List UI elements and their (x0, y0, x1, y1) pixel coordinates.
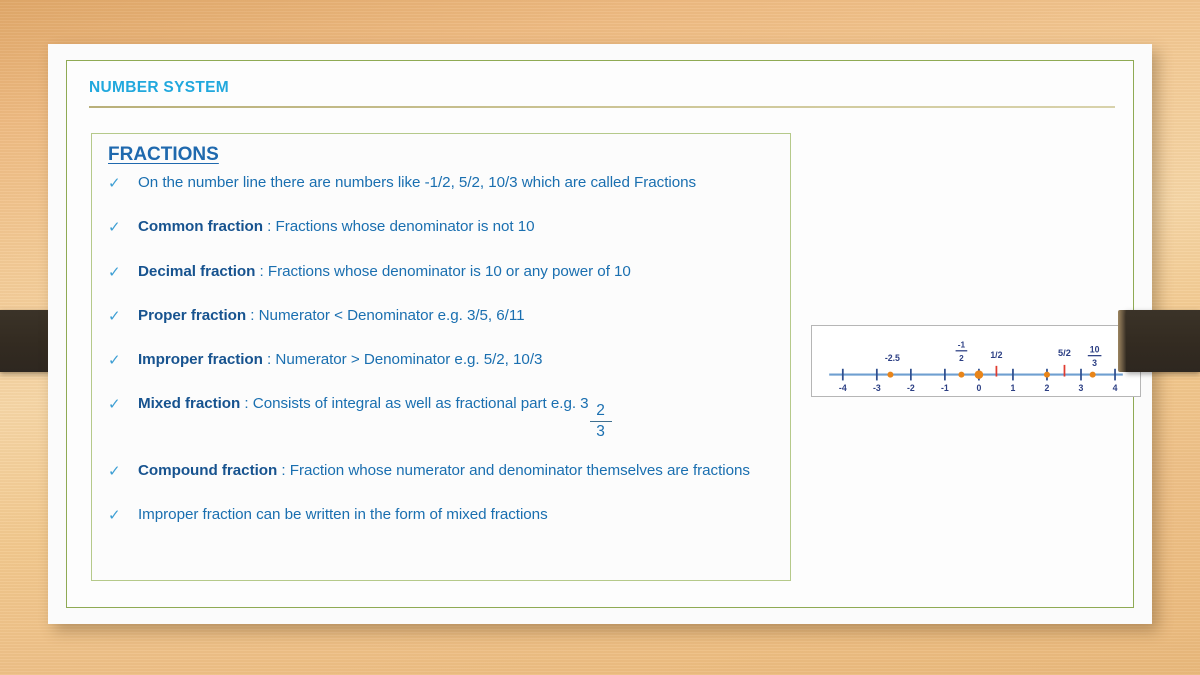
axis-label: -3 (873, 383, 881, 393)
list-item-body: : Fractions whose denominator is not 10 (263, 218, 535, 235)
point-label-denominator: 3 (1092, 358, 1097, 368)
check-icon: ✓ (108, 460, 138, 482)
list-item-term: Improper fraction (138, 351, 263, 368)
check-icon: ✓ (108, 172, 138, 194)
fraction-bar (590, 421, 612, 423)
number-line-svg: -4 -3 -2 -1 0 1 2 3 4 -2.5 (812, 326, 1140, 396)
list-item-body: : Consists of integral as well as fracti… (240, 395, 588, 412)
number-line-points: -2.5 -1 2 1/2 5/2 (885, 340, 1102, 379)
point-label: 5/2 (1058, 348, 1071, 358)
list-item-term: Compound fraction (138, 462, 277, 479)
axis-label: 1 (1011, 383, 1016, 393)
point-marker-origin (975, 370, 984, 379)
axis-label: -4 (839, 383, 847, 393)
point-marker (1044, 372, 1050, 378)
list-item-text: Decimal fraction : Fractions whose denom… (138, 261, 631, 283)
page-title: NUMBER SYSTEM (89, 79, 229, 97)
list-item: ✓ Compound fraction : Fraction whose num… (108, 460, 776, 482)
check-icon: ✓ (108, 261, 138, 283)
axis-label: 4 (1113, 383, 1118, 393)
list-item-term: Mixed fraction (138, 395, 240, 412)
list-item-body: Improper fraction can be written in the … (138, 506, 548, 523)
list-item-text: Improper fraction can be written in the … (138, 504, 548, 526)
list-item: ✓ Improper fraction : Numerator > Denomi… (108, 349, 776, 371)
axis-label: 3 (1079, 383, 1084, 393)
fraction-numerator: 2 (596, 403, 605, 420)
list-item-text: Mixed fraction : Consists of integral as… (138, 393, 612, 441)
ribbon-banner-right (1126, 310, 1200, 372)
list-item-body: On the number line there are numbers lik… (138, 174, 696, 191)
list-item-text: Improper fraction : Numerator > Denomina… (138, 349, 542, 371)
list-item-body: : Fractions whose denominator is 10 or a… (255, 263, 630, 280)
point-label-numerator: 10 (1090, 344, 1100, 354)
list-item: ✓ Proper fraction : Numerator < Denomina… (108, 305, 776, 327)
title-divider (89, 106, 1115, 108)
check-icon: ✓ (108, 349, 138, 371)
list-item: ✓ Common fraction : Fractions whose deno… (108, 216, 776, 238)
content-box: FRACTIONS ✓ On the number line there are… (91, 133, 791, 581)
check-icon: ✓ (108, 305, 138, 327)
point-label-denominator: 2 (959, 354, 964, 363)
list-item-term: Proper fraction (138, 307, 246, 324)
list-item: ✓ Decimal fraction : Fractions whose den… (108, 261, 776, 283)
number-line-integer-labels: -4 -3 -2 -1 0 1 2 3 4 (839, 383, 1118, 393)
check-icon: ✓ (108, 504, 138, 526)
axis-label: -1 (941, 383, 949, 393)
list-item-text: Common fraction : Fractions whose denomi… (138, 216, 535, 238)
number-line-figure: -4 -3 -2 -1 0 1 2 3 4 -2.5 (811, 325, 1141, 397)
axis-label: 0 (976, 383, 981, 393)
list-item-text: Compound fraction : Fraction whose numer… (138, 460, 750, 482)
list-item: ✓ Mixed fraction : Consists of integral … (108, 393, 776, 441)
point-label-numerator: -1 (958, 340, 966, 349)
point-label: 1/2 (990, 350, 1002, 360)
fraction-denominator: 3 (596, 423, 605, 440)
list-item-body: : Numerator > Denominator e.g. 5/2, 10/3 (263, 351, 543, 368)
check-icon: ✓ (108, 216, 138, 238)
list-item: ✓ Improper fraction can be written in th… (108, 504, 776, 526)
list-item-text: Proper fraction : Numerator < Denominato… (138, 305, 525, 327)
slide-card: NUMBER SYSTEM FRACTIONS ✓ On the number … (48, 44, 1152, 624)
list-item-text: On the number line there are numbers lik… (138, 172, 696, 194)
point-marker (1090, 372, 1096, 378)
axis-label: -2 (907, 383, 915, 393)
slide-inner-frame: NUMBER SYSTEM FRACTIONS ✓ On the number … (66, 60, 1134, 608)
point-marker (887, 372, 893, 378)
list-item-term: Decimal fraction (138, 263, 255, 280)
section-heading: FRACTIONS (108, 144, 776, 166)
list-item-body: : Numerator < Denominator e.g. 3/5, 6/11 (246, 307, 524, 324)
list-item: ✓ On the number line there are numbers l… (108, 172, 776, 194)
axis-label: 2 (1045, 383, 1050, 393)
list-item-body: : Fraction whose numerator and denominat… (277, 462, 750, 479)
point-label: -2.5 (885, 353, 900, 363)
point-marker (958, 372, 964, 378)
check-icon: ✓ (108, 393, 138, 415)
mixed-fraction: 23 (590, 403, 612, 440)
list-item-term: Common fraction (138, 218, 263, 235)
